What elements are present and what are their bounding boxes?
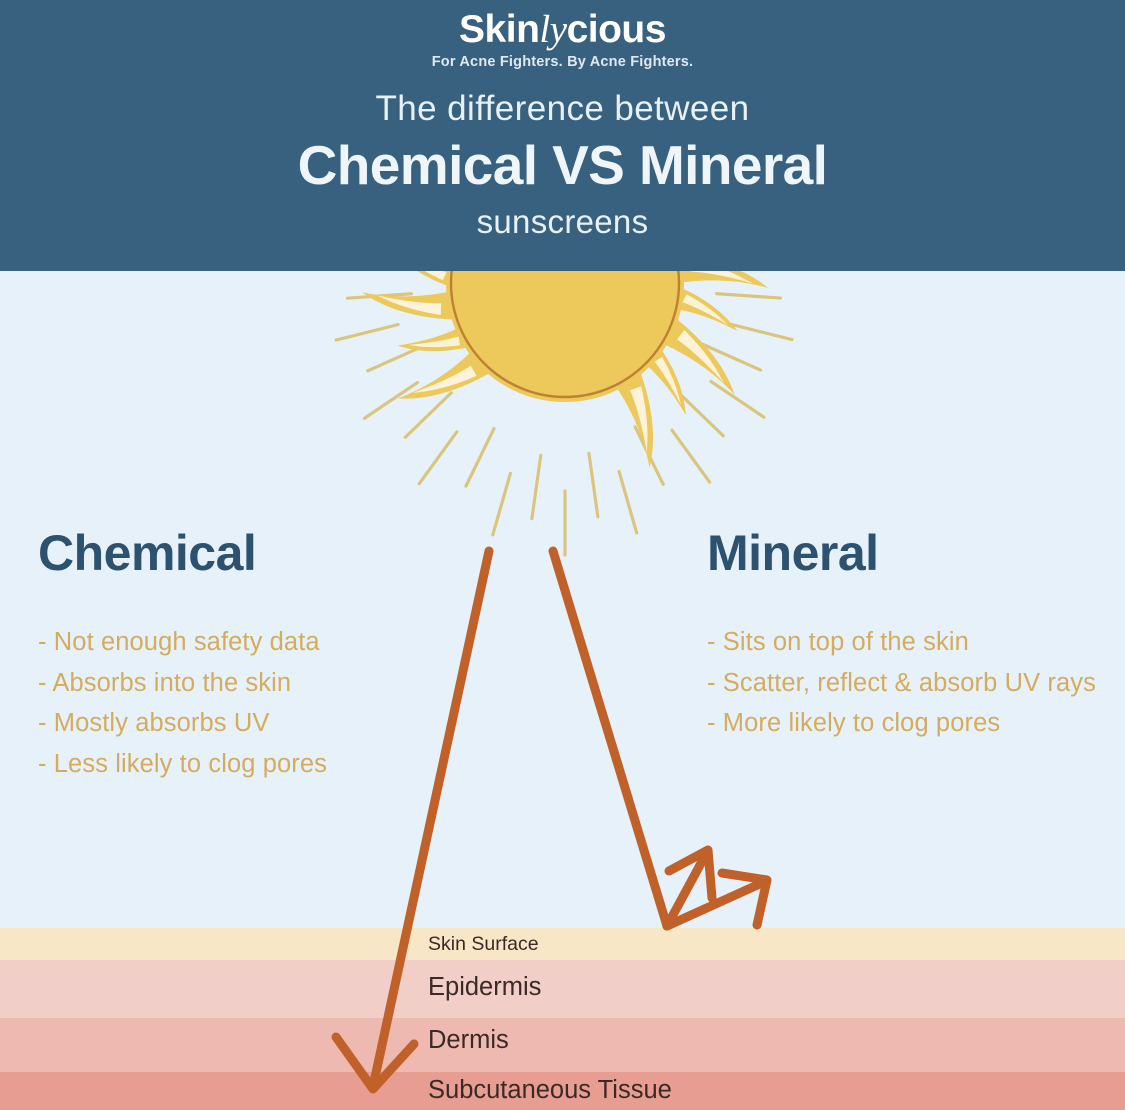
skin-layer-label: Subcutaneous Tissue — [428, 1076, 672, 1105]
skin-layer-diagram: Skin SurfaceEpidermisDermisSubcutaneous … — [0, 928, 1125, 1110]
list-item: - Less likely to clog pores — [38, 744, 468, 785]
infographic-poster: Skinlycious For Acne Fighters. By Acne F… — [0, 0, 1125, 1110]
title-line-3: sunscreens — [477, 203, 649, 241]
brand-tagline: For Acne Fighters. By Acne Fighters. — [432, 55, 694, 70]
skin-layer-label: Epidermis — [428, 973, 541, 1002]
bullet-list-mineral: - Sits on top of the skin- Scatter, refl… — [707, 622, 1107, 744]
header-banner: Skinlycious For Acne Fighters. By Acne F… — [0, 0, 1125, 271]
skin-layer-band — [0, 928, 1125, 960]
brand-name-part1: Skin — [459, 8, 539, 51]
list-item: - Mostly absorbs UV — [38, 703, 468, 744]
brand-logo: Skinlycious For Acne Fighters. By Acne F… — [432, 10, 694, 70]
skin-layer-label: Dermis — [428, 1026, 509, 1055]
skin-layer-label: Skin Surface — [428, 933, 539, 956]
brand-name: Skinlycious — [432, 10, 694, 49]
brand-name-part2: cious — [567, 8, 666, 51]
column-heading-chemical: Chemical — [38, 528, 468, 578]
skin-layer-band — [0, 960, 1125, 1018]
skin-layer-band — [0, 1018, 1125, 1072]
list-item: - Absorbs into the skin — [38, 663, 468, 704]
list-item: - More likely to clog pores — [707, 703, 1107, 744]
title-line-1: The difference between — [376, 90, 750, 129]
title-line-2: Chemical VS Mineral — [298, 137, 828, 195]
bullet-list-chemical: - Not enough safety data- Absorbs into t… — [38, 622, 468, 784]
column-mineral: Mineral - Sits on top of the skin- Scatt… — [707, 528, 1107, 744]
column-heading-mineral: Mineral — [707, 528, 1107, 578]
list-item: - Sits on top of the skin — [707, 622, 1107, 663]
brand-name-italic: ly — [539, 8, 566, 51]
column-chemical: Chemical - Not enough safety data- Absor… — [38, 528, 468, 784]
list-item: - Not enough safety data — [38, 622, 468, 663]
list-item: - Scatter, reflect & absorb UV rays — [707, 663, 1107, 704]
